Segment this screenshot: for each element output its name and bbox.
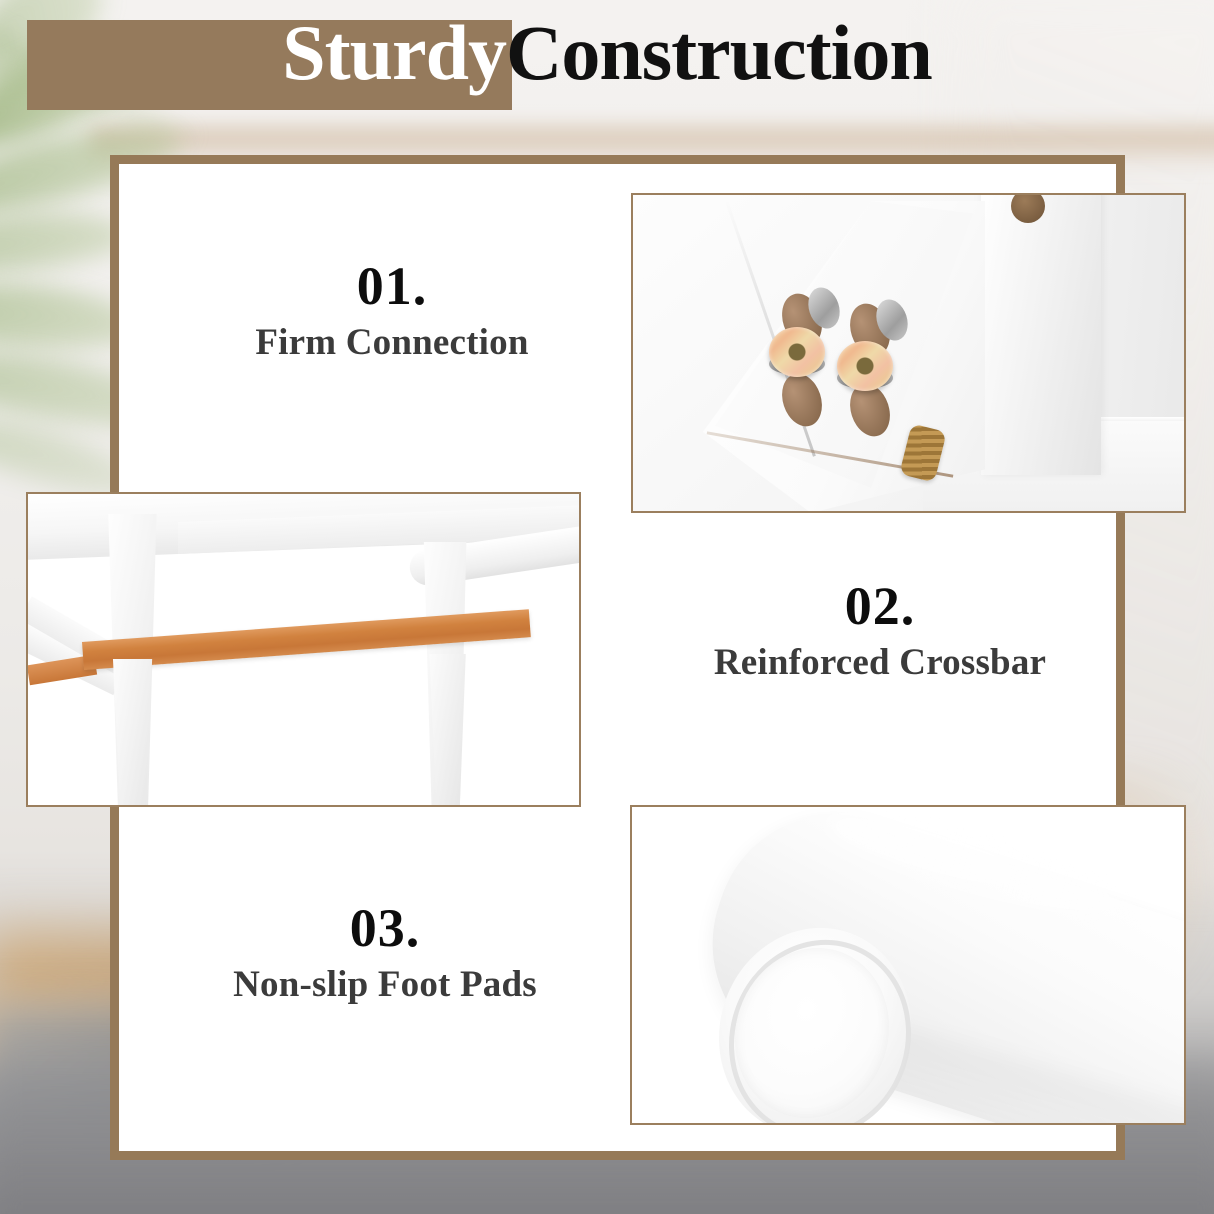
feature-number-03: 03. — [160, 900, 610, 957]
feature-photo-02 — [26, 492, 581, 807]
feature-number-02: 02. — [660, 578, 1100, 635]
photo-corner-bracket-image — [633, 195, 1184, 511]
zinc-washer — [769, 327, 825, 377]
header: SturdyConstruction — [0, 0, 1214, 150]
feature-text-03: 03. Non-slip Foot Pads — [160, 900, 610, 1007]
page-title-part-1: Sturdy — [282, 9, 506, 96]
feature-photo-03 — [630, 805, 1186, 1125]
feature-number-01: 01. — [170, 258, 614, 315]
panel-vertical-post — [981, 195, 1101, 475]
feature-label-01: Firm Connection — [170, 321, 614, 365]
feature-label-02: Reinforced Crossbar — [660, 641, 1100, 685]
photo-crossbar-image — [28, 494, 579, 805]
feature-text-01: 01. Firm Connection — [170, 258, 614, 365]
page-title-part-2: Construction — [506, 9, 932, 96]
feature-photo-01 — [631, 193, 1186, 513]
page-title: SturdyConstruction — [0, 14, 1214, 92]
feature-text-02: 02. Reinforced Crossbar — [660, 578, 1100, 685]
photo-foot-pad-image — [632, 807, 1184, 1123]
feature-label-03: Non-slip Foot Pads — [160, 963, 610, 1007]
infographic-canvas: SturdyConstruction 01. Firm Connection 0… — [0, 0, 1214, 1214]
zinc-washer — [837, 341, 893, 391]
